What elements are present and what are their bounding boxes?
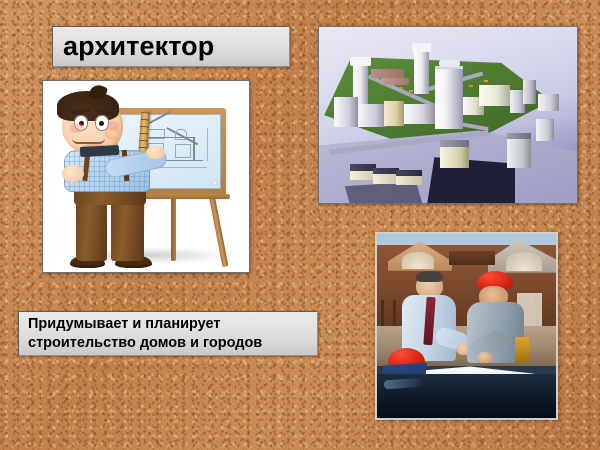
easel-leg-center	[171, 192, 176, 261]
waterfront-unit-3	[396, 170, 422, 186]
tower-left-crown	[350, 57, 371, 66]
foreground-building-left-roof	[440, 140, 468, 147]
marker-car-3	[469, 85, 473, 87]
caption-line-2: строительство домов и городов	[28, 334, 308, 353]
waterfront-unit-3-roof	[396, 170, 422, 177]
marker-car-4	[484, 80, 488, 82]
roof-center-dark	[449, 251, 496, 266]
cheek-blush-right	[107, 121, 119, 131]
tower-center-rear	[414, 48, 428, 94]
sketch-window-upper-left	[146, 129, 164, 139]
image-3d-architectural-city-model	[318, 26, 578, 204]
slide-canvas: архитектор Придумывает и планирует строи…	[0, 0, 600, 450]
sketch-dimension-line-right	[207, 128, 208, 161]
tower-center-main	[435, 66, 463, 129]
tool-pouch	[515, 337, 529, 363]
foreground-building-right-roof	[507, 133, 530, 139]
block-far-right	[538, 94, 559, 112]
page-title: архитектор	[63, 33, 289, 60]
collar	[80, 145, 120, 157]
board-screw-top-right	[213, 118, 217, 122]
construction-site-photo-scene	[377, 234, 556, 418]
city-render-scene	[319, 27, 577, 203]
sketch-window-arched	[175, 129, 187, 140]
waterfront-unit-2-roof	[373, 168, 399, 175]
tower-center-main-crown	[439, 60, 460, 67]
block-left-1	[334, 97, 357, 127]
pupil-right	[99, 121, 104, 127]
cheek-blush-left	[70, 123, 84, 133]
image-two-men-reviewing-blueprints	[375, 232, 558, 420]
caption-line-1: Придумывает и планирует	[28, 315, 308, 334]
person-right-hand	[477, 352, 493, 363]
foreground-building-left	[440, 140, 468, 168]
waterfront-unit-2	[373, 168, 399, 184]
foreground-building-right	[507, 133, 530, 168]
hand-right	[146, 146, 165, 159]
foreground-building-far-right	[536, 119, 554, 142]
roof-red-rear	[371, 69, 405, 78]
roof-red-rear-2	[381, 78, 409, 85]
marker-car-2	[409, 90, 413, 92]
waterfront-unit-1	[350, 164, 376, 180]
board-screw-bottom-right	[213, 181, 217, 185]
sketch-window-lower-right	[175, 144, 191, 158]
tower-right-slim	[523, 80, 536, 105]
block-right-large	[479, 85, 510, 106]
person-left-hair	[416, 271, 443, 282]
marker-car-1	[399, 87, 403, 89]
slide-caption-plate: Придумывает и планирует строительство до…	[18, 311, 318, 356]
waterfront-unit-1-roof	[350, 164, 376, 171]
gable-right-arched-window	[506, 252, 542, 270]
slide-title-plate: архитектор	[52, 26, 290, 67]
gable-left-arched-window	[402, 252, 434, 269]
architect-illustration-scene	[43, 81, 249, 272]
block-left-3-beige	[384, 101, 405, 126]
tower-center-rear-crown	[412, 43, 431, 52]
block-center-1	[404, 104, 435, 123]
image-cartoon-architect-at-drafting-board	[42, 80, 250, 273]
block-left-2	[358, 104, 386, 127]
